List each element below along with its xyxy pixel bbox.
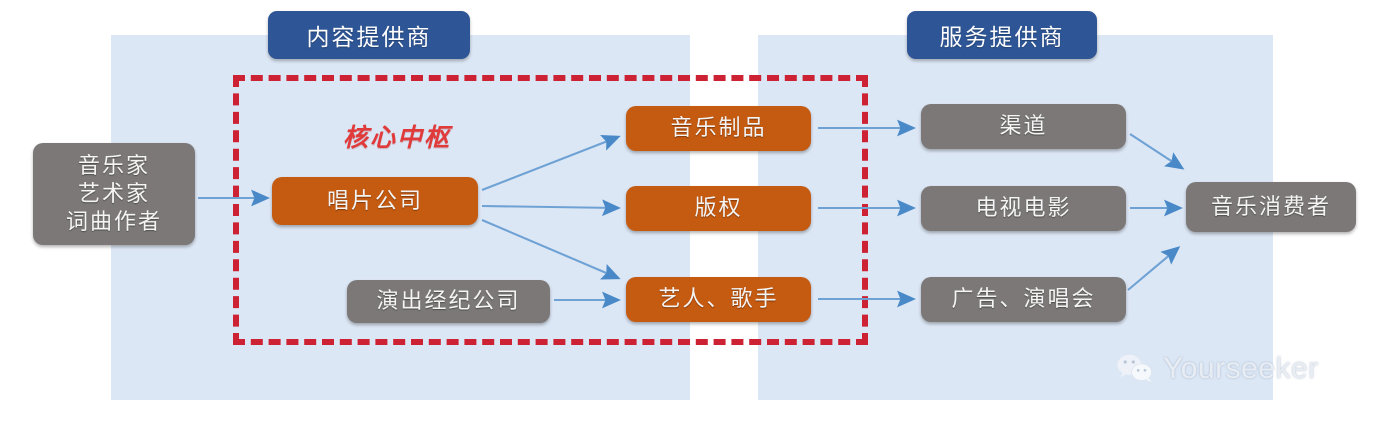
wechat-icon [1116, 353, 1154, 385]
node-ads-concerts[interactable]: 广告、演唱会 [921, 277, 1126, 322]
header-service-provider: 服务提供商 [907, 11, 1097, 59]
node-artists-singers[interactable]: 艺人、歌手 [626, 277, 811, 322]
watermark-text: Yourseeker [1163, 352, 1319, 386]
diagram-canvas: 内容提供商 服务提供商 核心中枢 音乐家 艺术家 词曲作者 唱片公司 演出经纪公… [0, 0, 1397, 427]
node-copyright[interactable]: 版权 [626, 186, 811, 231]
node-music-products[interactable]: 音乐制品 [626, 106, 811, 151]
node-performance-agency[interactable]: 演出经纪公司 [347, 280, 550, 323]
core-hub-label: 核心中枢 [343, 118, 451, 154]
node-label-company[interactable]: 唱片公司 [272, 177, 478, 225]
node-channel[interactable]: 渠道 [921, 104, 1126, 149]
node-creators-line-1: 音乐家 [78, 152, 150, 180]
header-content-provider: 内容提供商 [268, 11, 470, 59]
node-creators-line-3: 词曲作者 [66, 208, 162, 236]
node-tv-film[interactable]: 电视电影 [921, 186, 1126, 231]
watermark: Yourseeker [1116, 352, 1319, 386]
node-creators[interactable]: 音乐家 艺术家 词曲作者 [33, 143, 195, 245]
node-music-consumers[interactable]: 音乐消费者 [1186, 182, 1356, 232]
node-creators-line-2: 艺术家 [78, 180, 150, 208]
